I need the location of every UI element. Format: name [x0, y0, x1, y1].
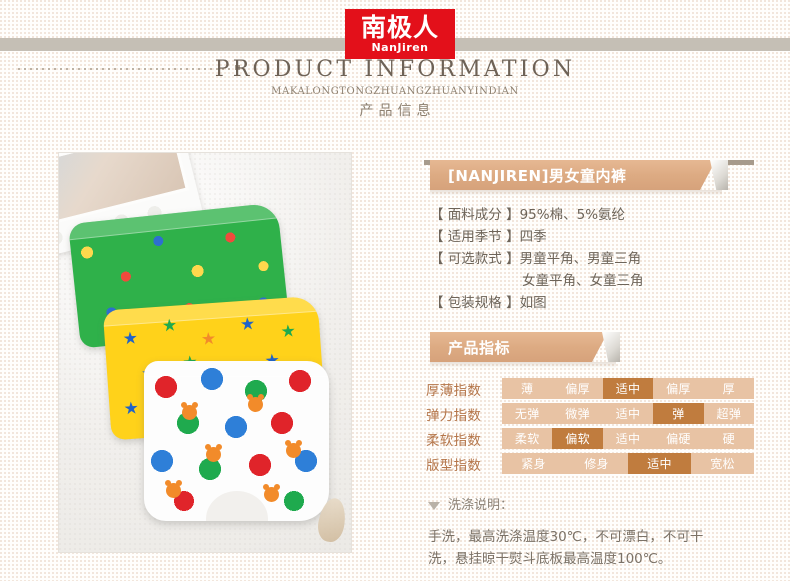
- indicator-cell: 紧身: [502, 453, 565, 474]
- indicator-cell: 无弹: [502, 403, 552, 424]
- product-photo: ★★★★★★★★★★★★★★★: [58, 152, 352, 553]
- indicator-cell: 宽松: [691, 453, 754, 474]
- bear-face-icon: [264, 487, 279, 502]
- product-title-ribbon-body: [NANJIREN]男女童内裤: [430, 160, 716, 190]
- indicator-cell: 适中: [603, 428, 653, 449]
- spec-value: 95%棉、5%氨纶: [520, 204, 625, 226]
- spec-list: 【 面料成分 】 95%棉、5%氨纶 【 适用季节 】 四季 【 可选款式 】 …: [424, 204, 754, 314]
- wash-body-text: 手洗，最高洗涤温度30℃，不可漂白，不可干洗，悬挂晾干熨斗底板最高温度100℃。: [428, 526, 728, 570]
- spec-row: 【 可选款式 】 男童平角、男童三角: [430, 248, 754, 270]
- product-photo-inner: ★★★★★★★★★★★★★★★: [59, 153, 351, 552]
- indicator-cell-selected: 适中: [603, 378, 653, 399]
- page-title-cn: 产品信息: [0, 101, 790, 121]
- indicator-cell: 偏硬: [653, 428, 703, 449]
- indicator-scale: 柔软偏软适中偏硬硬: [502, 428, 754, 449]
- indicator-cell: 厚: [704, 378, 754, 399]
- underwear-white: [144, 361, 329, 521]
- indicator-row: 柔软指数柔软偏软适中偏硬硬: [426, 428, 754, 449]
- spec-value: 如图: [520, 292, 547, 314]
- indicator-cell-selected: 弹: [653, 403, 703, 424]
- indicator-cell: 修身: [565, 453, 628, 474]
- wash-heading-row: 洗涤说明：: [428, 496, 754, 516]
- ribbon-shadow: [430, 362, 616, 368]
- product-title-ribbon: [NANJIREN]男女童内裤: [424, 160, 754, 190]
- indicator-row: 厚薄指数薄偏厚适中偏厚厚: [426, 378, 754, 399]
- product-title: [NANJIREN]男女童内裤: [448, 165, 626, 186]
- brand-logo: 南极人 NanJiren: [345, 9, 455, 59]
- indicator-cell: 超弹: [704, 403, 754, 424]
- indicator-scale: 紧身修身适中宽松: [502, 453, 754, 474]
- product-info-panel: [NANJIREN]男女童内裤 【 面料成分 】 95%棉、5%氨纶 【 适用季…: [424, 160, 754, 570]
- indicator-cell-selected: 偏软: [552, 428, 602, 449]
- spec-value-continued: 女童平角、女童三角: [430, 270, 754, 292]
- spacer: [424, 314, 754, 332]
- bear-face-icon: [182, 405, 197, 420]
- ribbon-fold-corner: [710, 160, 728, 190]
- indicator-scale: 薄偏厚适中偏厚厚: [502, 378, 754, 399]
- spec-row: 【 面料成分 】 95%棉、5%氨纶: [430, 204, 754, 226]
- indicator-cell: 硬: [704, 428, 754, 449]
- indicator-table: 厚薄指数薄偏厚适中偏厚厚弹力指数无弹微弹适中弹超弹柔软指数柔软偏软适中偏硬硬版型…: [424, 378, 754, 474]
- indicator-label: 柔软指数: [426, 429, 502, 449]
- indicator-cell: 适中: [603, 403, 653, 424]
- wash-heading: 洗涤说明：: [448, 496, 513, 516]
- indicator-cell: 柔软: [502, 428, 552, 449]
- brand-logo-cn: 南极人: [361, 15, 439, 41]
- indicator-cell: 薄: [502, 378, 552, 399]
- indicators-heading: 产品指标: [448, 337, 510, 358]
- brand-logo-en: NanJiren: [371, 41, 428, 54]
- indicator-cell-selected: 适中: [628, 453, 691, 474]
- page-title-en: PRODUCT INFORMATION: [0, 57, 790, 83]
- spec-value: 四季: [520, 226, 547, 248]
- spec-key: 【 包装规格 】: [430, 292, 520, 314]
- spec-value: 男童平角、男童三角: [520, 248, 642, 270]
- indicator-row: 版型指数紧身修身适中宽松: [426, 453, 754, 474]
- page-title-block: PRODUCT INFORMATION MAKALONGTONGZHUANGZH…: [0, 57, 790, 121]
- wash-instructions: 洗涤说明： 手洗，最高洗涤温度30℃，不可漂白，不可干洗，悬挂晾干熨斗底板最高温…: [424, 496, 754, 570]
- bear-face-icon: [286, 443, 301, 458]
- indicator-label: 厚薄指数: [426, 379, 502, 399]
- indicator-cell: 微弹: [552, 403, 602, 424]
- ribbon-fold-corner: [602, 332, 620, 362]
- spec-row: 【 包装规格 】 如图: [430, 292, 754, 314]
- indicator-cell: 偏厚: [552, 378, 602, 399]
- indicator-label: 弹力指数: [426, 404, 502, 424]
- spec-key: 【 面料成分 】: [430, 204, 520, 226]
- indicators-ribbon-body: 产品指标: [430, 332, 608, 362]
- bear-face-icon: [166, 483, 181, 498]
- spec-row: 【 适用季节 】 四季: [430, 226, 754, 248]
- spec-key: 【 适用季节 】: [430, 226, 520, 248]
- bear-face-icon: [206, 447, 221, 462]
- bear-face-icon: [248, 397, 263, 412]
- indicator-scale: 无弹微弹适中弹超弹: [502, 403, 754, 424]
- indicator-row: 弹力指数无弹微弹适中弹超弹: [426, 403, 754, 424]
- page-title-pinyin: MAKALONGTONGZHUANGZHUANYINDIAN: [0, 84, 790, 100]
- ribbon-shadow: [430, 190, 722, 196]
- spec-key: 【 可选款式 】: [430, 248, 520, 270]
- indicator-cell: 偏厚: [653, 378, 703, 399]
- triangle-down-icon: [428, 502, 440, 510]
- indicators-ribbon: 产品指标: [424, 332, 754, 362]
- indicator-label: 版型指数: [426, 454, 502, 474]
